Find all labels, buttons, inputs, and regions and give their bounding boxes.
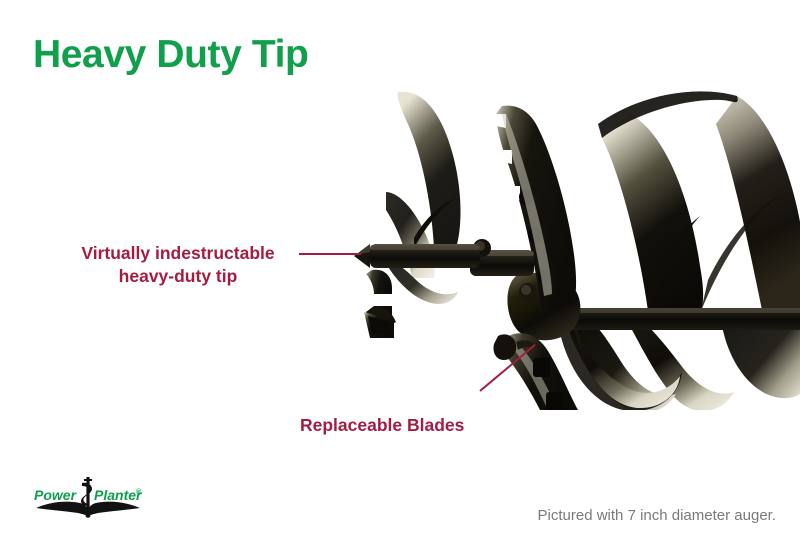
page-title: Heavy Duty Tip xyxy=(33,33,308,77)
leader-line-tip xyxy=(299,253,361,255)
callout-replaceable-blades: Replaceable Blades xyxy=(300,414,464,437)
slide-canvas: Heavy Duty Tip xyxy=(0,0,800,534)
figure-caption: Pictured with 7 inch diameter auger. xyxy=(538,507,776,524)
power-planter-logo: Power Planter ® xyxy=(32,476,144,518)
callout-tip-line2: heavy-duty tip xyxy=(62,265,294,288)
callout-heavy-duty-tip: Virtually indestructable heavy-duty tip xyxy=(62,242,294,289)
auger-product-image xyxy=(330,80,800,410)
logo-word-power: Power xyxy=(34,487,78,503)
logo-registered-mark: ® xyxy=(136,488,142,496)
callout-tip-line1: Virtually indestructable xyxy=(62,242,294,265)
